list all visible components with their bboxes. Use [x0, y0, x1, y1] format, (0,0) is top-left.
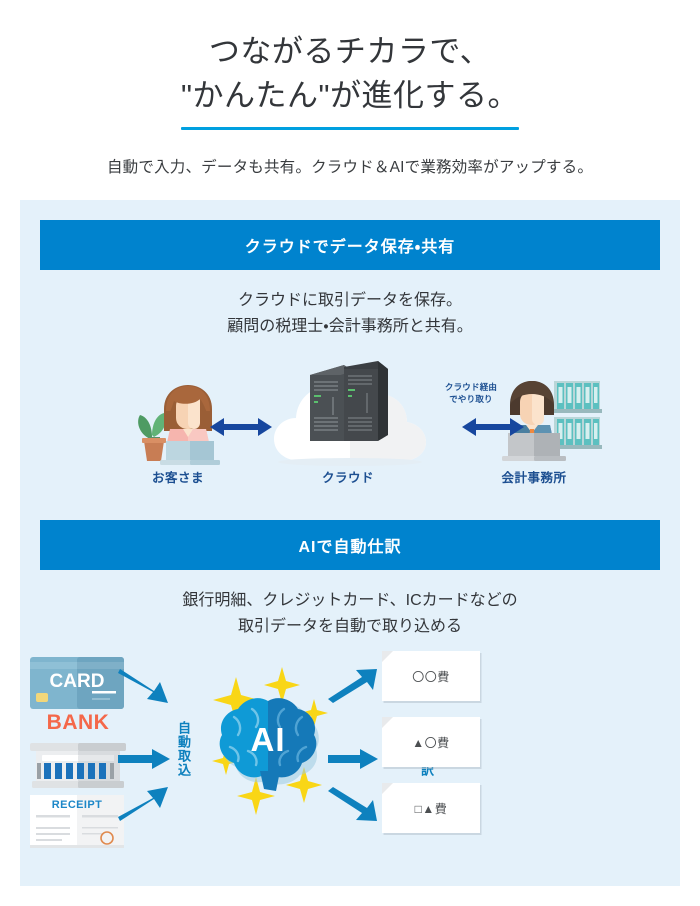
expense-card-1: 〇〇費 — [382, 651, 480, 701]
auto-import-label: 自動取込 — [172, 721, 190, 777]
cloud-desc-line-2: 顧問の税理士・会計事務所と共有。 — [20, 314, 680, 340]
page-title: つながるチカラで、 "かんたん"が進化する。 — [0, 30, 700, 118]
page-title-line-1: つながるチカラで、 — [0, 30, 700, 74]
card-label: CARD — [50, 671, 105, 692]
page-subtitle: 自動で入力、データも共有。クラウド＆AIで業務効率がアップする。 — [0, 155, 700, 177]
section-header-ai: AIで自動仕訳 — [40, 520, 660, 570]
expense-card-1-label: 〇〇費 — [412, 668, 450, 685]
ai-journal-entry-diagram: CARD BANK — [20, 645, 680, 865]
ai-desc-line-1: 銀行明細、クレジットカード、ICカードなどの — [20, 588, 680, 614]
hero-section: つながるチカラで、 "かんたん"が進化する。 自動で入力、データも共有。クラウド… — [0, 0, 700, 177]
expense-card-2-label: ▲〇費 — [412, 734, 449, 751]
ai-brain-label: AI — [228, 721, 308, 759]
arrow-ai-to-expense-1-icon — [328, 667, 378, 705]
expense-card-3-label: □▲費 — [415, 800, 448, 817]
figure-label-cloud: クラウド — [268, 467, 428, 486]
section-description-ai: 銀行明細、クレジットカード、ICカードなどの 取引データを自動で取り込める — [20, 588, 680, 640]
expense-card-2: ▲〇費 — [382, 717, 480, 767]
receipt-icon: RECEIPT — [28, 793, 128, 851]
cloud-exchange-note: クラウド経由 でやり取り — [428, 381, 514, 406]
page-title-line-2: "かんたん"が進化する。 — [0, 74, 700, 118]
expense-card-3: □▲費 — [382, 783, 480, 833]
cloud-servers-icon — [272, 361, 428, 469]
credit-card-icon: CARD — [28, 653, 128, 713]
figure-label-accounting-office: 会計事務所 — [454, 467, 614, 486]
cloud-note-line-2: でやり取り — [428, 393, 514, 405]
arrow-bank-to-ai-icon — [118, 749, 170, 769]
bank-building-icon — [28, 737, 128, 793]
ai-desc-line-2: 取引データを自動で取り込める — [20, 614, 680, 640]
figure-label-customer: お客さま — [98, 467, 258, 486]
arrow-ai-to-expense-3-icon — [328, 785, 378, 823]
cloud-sharing-diagram: お客さま — [20, 355, 680, 495]
arrow-ai-to-expense-2-icon — [328, 749, 378, 769]
section-description-cloud: クラウドに取引データを保存。 顧問の税理士・会計事務所と共有。 — [20, 288, 680, 340]
arrow-receipt-to-ai-icon — [118, 785, 170, 823]
features-panel: クラウドでデータ保存・共有 クラウドに取引データを保存。 顧問の税理士・会計事務… — [20, 200, 680, 886]
title-underline-rule — [181, 127, 519, 130]
section-header-cloud-label: クラウドでデータ保存・共有 — [245, 233, 455, 257]
arrow-card-to-ai-icon — [118, 667, 170, 705]
section-header-ai-label: AIで自動仕訳 — [298, 533, 401, 557]
receipt-label: RECEIPT — [52, 799, 102, 811]
section-header-cloud: クラウドでデータ保存・共有 — [40, 220, 660, 270]
cloud-desc-line-1: クラウドに取引データを保存。 — [20, 288, 680, 314]
page-root: つながるチカラで、 "かんたん"が進化する。 自動で入力、データも共有。クラウド… — [0, 0, 700, 906]
bank-label: BANK — [28, 711, 128, 735]
bidirectional-arrow-cloud-office-icon — [462, 417, 524, 437]
bidirectional-arrow-customer-cloud-icon — [210, 417, 272, 437]
cloud-note-line-1: クラウド経由 — [428, 381, 514, 393]
